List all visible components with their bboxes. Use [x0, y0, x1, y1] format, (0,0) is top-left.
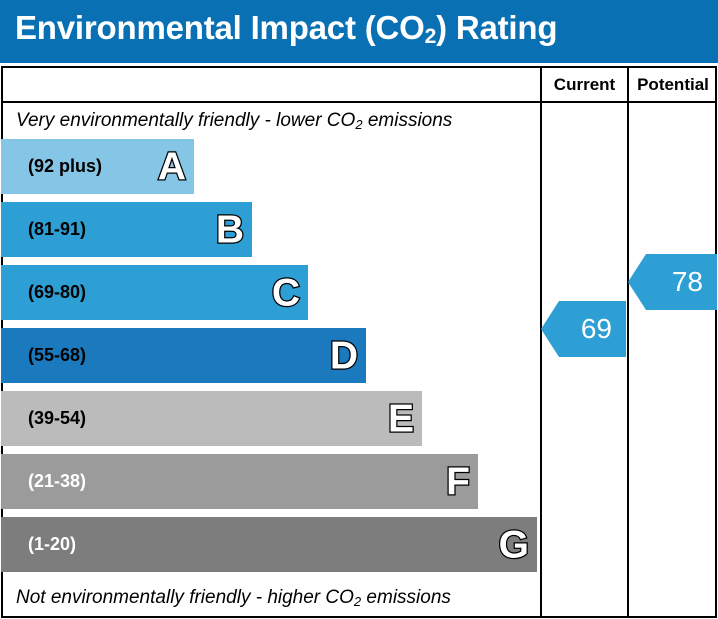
- column-header-current: Current: [542, 72, 627, 98]
- page-title: Environmental Impact (CO2) Rating: [15, 9, 557, 47]
- band-letter-g: G: [499, 525, 529, 564]
- rating-band-f: (21-38)F: [1, 454, 478, 509]
- current-rating-marker: 69: [541, 301, 626, 357]
- band-letter-d: D: [330, 336, 358, 375]
- band-range-label: (55-68): [28, 328, 86, 383]
- band-range-label: (81-91): [28, 202, 86, 257]
- rating-band-e: (39-54)E: [1, 391, 422, 446]
- band-range-label: (92 plus): [28, 139, 102, 194]
- caption-bottom: Not environmentally friendly - higher CO…: [16, 587, 451, 609]
- column-divider-potential: [627, 66, 629, 618]
- potential-rating-marker: 78: [628, 254, 717, 310]
- band-letter-b: B: [216, 210, 244, 249]
- rating-band-c: (69-80)C: [1, 265, 308, 320]
- band-letter-a: A: [158, 147, 186, 186]
- caption-top: Very environmentally friendly - lower CO…: [16, 110, 452, 132]
- chart-header: Environmental Impact (CO2) Rating: [0, 0, 718, 63]
- band-letter-e: E: [388, 399, 414, 438]
- band-range-label: (1-20): [28, 517, 76, 572]
- column-divider-current: [540, 66, 542, 618]
- rating-band-b: (81-91)B: [1, 202, 252, 257]
- rating-band-a: (92 plus)A: [1, 139, 194, 194]
- band-range-label: (21-38): [28, 454, 86, 509]
- band-letter-f: F: [446, 462, 470, 501]
- environmental-impact-rating-chart: Environmental Impact (CO2) Rating Curren…: [0, 0, 718, 619]
- band-letter-c: C: [272, 273, 300, 312]
- rating-band-g: (1-20)G: [1, 517, 537, 572]
- rating-band-d: (55-68)D: [1, 328, 366, 383]
- header-row-divider: [1, 101, 717, 103]
- band-range-label: (69-80): [28, 265, 86, 320]
- band-range-label: (39-54): [28, 391, 86, 446]
- column-header-potential: Potential: [629, 72, 717, 98]
